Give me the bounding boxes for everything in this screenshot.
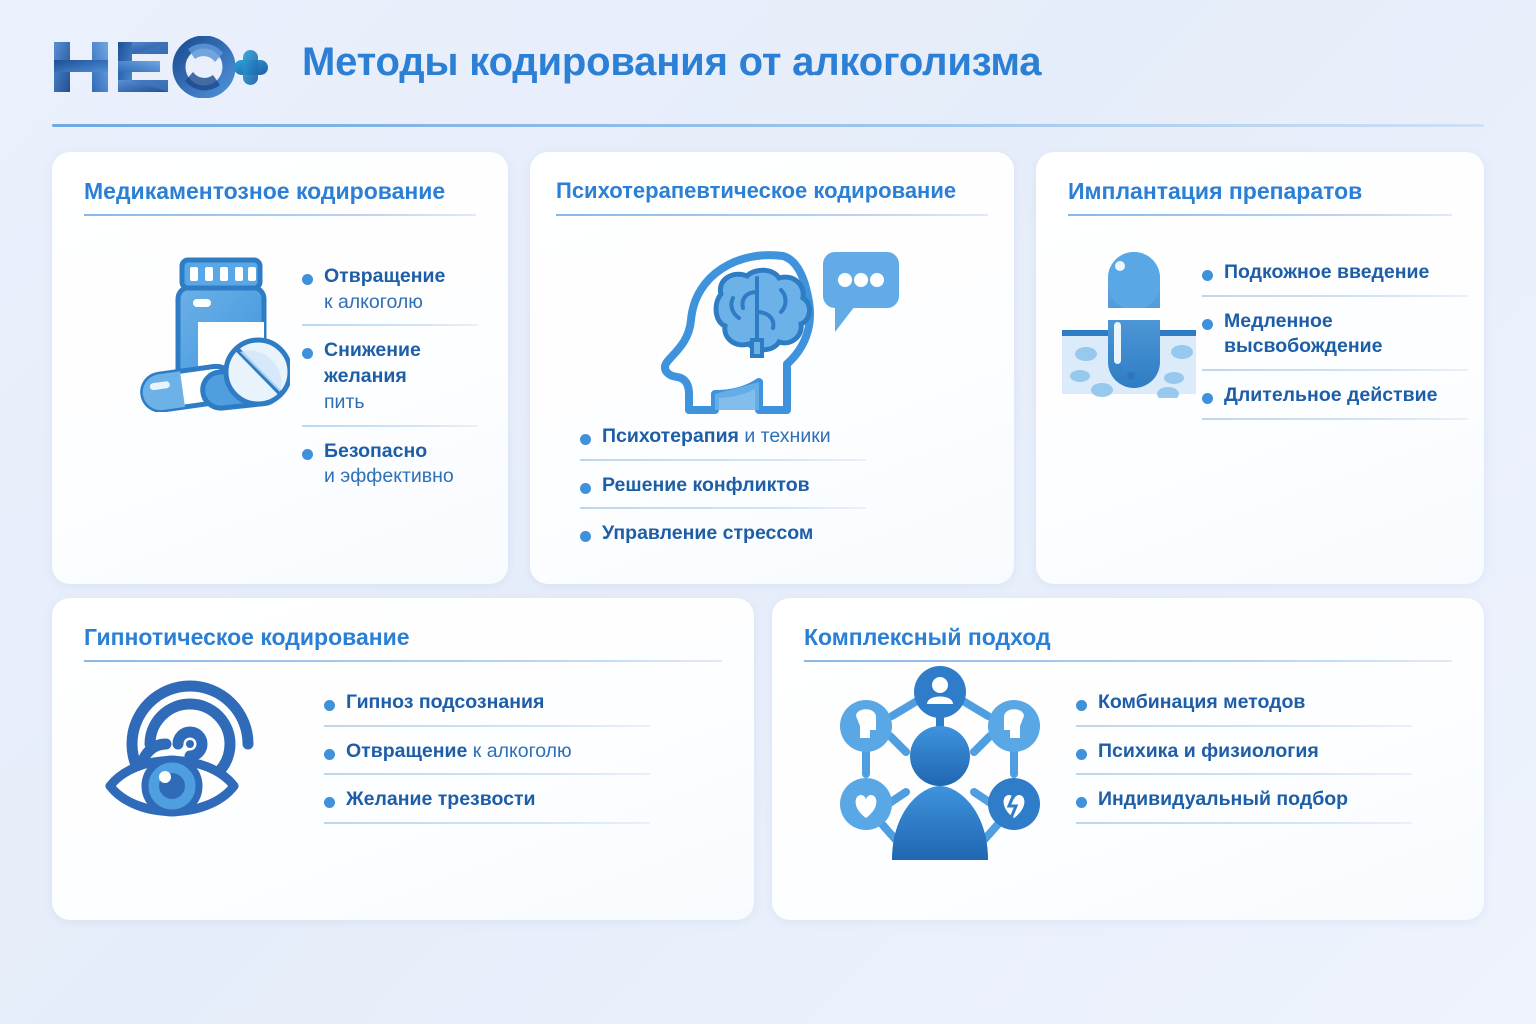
card-title-divider <box>556 214 988 216</box>
card-title-medication: Медикаментозное кодирование <box>84 178 445 205</box>
card-title-divider <box>84 660 722 662</box>
bullet-dot <box>580 531 591 542</box>
list-divider <box>580 507 866 509</box>
neo-plus-logo <box>52 36 270 98</box>
card-title-complex: Комплексный подход <box>804 624 1051 651</box>
list-divider <box>1076 822 1412 824</box>
bullet-dot <box>1202 319 1213 330</box>
bullet-dot <box>302 449 313 460</box>
list-item-strong: Индивидуальный подбор <box>1098 788 1348 810</box>
list-medication: Отвращение к алкоголю Снижение желания п… <box>298 264 478 490</box>
list-divider <box>580 459 866 461</box>
list-divider <box>302 324 478 326</box>
list-divider <box>1202 295 1468 297</box>
list-item[interactable]: Управление стрессом <box>576 521 976 547</box>
list-item-strong: Желание трезвости <box>346 788 536 810</box>
list-item-light: пить <box>324 391 365 413</box>
bullet-dot <box>1076 700 1087 711</box>
bullet-dot <box>580 434 591 445</box>
bullet-dot <box>1076 749 1087 760</box>
list-item[interactable]: Индивидуальный подбор <box>1072 787 1412 813</box>
list-item-light: и эффективно <box>324 465 454 487</box>
header: Методы кодирования от алкоголизма <box>52 34 1484 122</box>
list-item-strong: Подкожное введение <box>1224 261 1429 283</box>
list-item-light: к алкоголю <box>324 291 423 313</box>
pill-bottle-icon <box>130 252 290 412</box>
bullet-dot <box>1202 270 1213 281</box>
list-item-light: и техники <box>744 425 830 447</box>
list-item-strong: Снижение желания <box>324 339 421 387</box>
card-complex[interactable]: Комплексный подход <box>772 598 1484 920</box>
bullet-dot <box>580 483 591 494</box>
list-item-strong: Отвращение <box>346 740 467 762</box>
bullet-dot <box>302 274 313 285</box>
list-item[interactable]: Решение конфликтов <box>576 473 976 499</box>
list-divider <box>324 822 650 824</box>
list-item-strong: Безопасно <box>324 440 427 462</box>
list-item[interactable]: Психика и физиология <box>1072 739 1412 765</box>
bullet-dot <box>324 797 335 808</box>
list-hypnosis: Гипноз подсознания Отвращение к алкоголю… <box>320 690 650 824</box>
card-hypnosis[interactable]: Гипнотическое кодирование <box>52 598 754 920</box>
list-item[interactable]: Психотерапия и техники <box>576 424 976 450</box>
list-item[interactable]: Безопасно и эффективно <box>298 439 478 490</box>
bullet-dot <box>302 348 313 359</box>
card-title-implantation: Имплантация препаратов <box>1068 178 1362 205</box>
list-item[interactable]: Медленное высвобождение <box>1198 309 1468 360</box>
card-title-divider <box>804 660 1452 662</box>
page-title: Методы кодирования от алкоголизма <box>302 40 1041 85</box>
list-divider <box>324 773 650 775</box>
list-psychotherapy: Психотерапия и техники Решение конфликто… <box>576 424 976 547</box>
card-title-psychotherapy: Психотерапевтическое кодирование <box>556 178 956 204</box>
card-title-divider <box>84 214 476 216</box>
speech-bubble <box>823 252 899 332</box>
list-item[interactable]: Снижение желания пить <box>298 338 478 415</box>
list-item-strong: Психика и физиология <box>1098 740 1319 762</box>
list-item[interactable]: Подкожное введение <box>1198 260 1468 286</box>
list-item-strong: Отвращение <box>324 265 445 287</box>
list-item-strong: Медленное <box>1224 310 1333 332</box>
list-item[interactable]: Отвращение к алкоголю <box>298 264 478 315</box>
card-title-hypnosis: Гипнотическое кодирование <box>84 624 410 651</box>
list-divider <box>302 425 478 427</box>
bullet-dot <box>324 749 335 760</box>
header-divider <box>52 124 1484 127</box>
bullet-dot <box>1202 393 1213 404</box>
list-item-strong: Решение конфликтов <box>602 474 810 496</box>
bullet-dot <box>324 700 335 711</box>
list-divider <box>324 725 650 727</box>
network-person-icon <box>830 664 1050 870</box>
list-item-strong: Управление стрессом <box>602 522 813 544</box>
list-item[interactable]: Гипноз подсознания <box>320 690 650 716</box>
list-item-light: высвобождение <box>1224 335 1383 357</box>
list-item-strong: Гипноз подсознания <box>346 691 544 713</box>
card-title-divider <box>1068 214 1452 216</box>
list-divider <box>1076 773 1412 775</box>
list-item-strong: Психотерапия <box>602 425 739 447</box>
list-item-strong: Комбинация методов <box>1098 691 1305 713</box>
list-item[interactable]: Отвращение к алкоголю <box>320 739 650 765</box>
list-item[interactable]: Длительное действие <box>1198 383 1468 409</box>
hypnosis-eye-icon <box>102 674 272 834</box>
list-divider <box>1076 725 1412 727</box>
list-item-light: к алкоголю <box>473 740 572 762</box>
card-medication[interactable]: Медикаментозное кодирование <box>52 152 508 584</box>
list-divider <box>1202 418 1468 420</box>
card-implantation[interactable]: Имплантация препаратов <box>1036 152 1484 584</box>
list-complex: Комбинация методов Психика и физиология … <box>1072 690 1412 824</box>
implant-capsule-icon <box>1054 248 1204 398</box>
bullet-dot <box>1076 797 1087 808</box>
list-item-strong: Длительное действие <box>1224 384 1437 406</box>
list-implantation: Подкожное введение Медленное высвобожден… <box>1198 260 1468 420</box>
list-item[interactable]: Комбинация методов <box>1072 690 1412 716</box>
infographic-page: Методы кодирования от алкоголизма Медика… <box>0 0 1536 1024</box>
list-item[interactable]: Желание трезвости <box>320 787 650 813</box>
list-divider <box>1202 369 1468 371</box>
card-psychotherapy[interactable]: Психотерапевтическое кодирование <box>530 152 1014 584</box>
head-brain-speech-icon <box>655 244 905 414</box>
